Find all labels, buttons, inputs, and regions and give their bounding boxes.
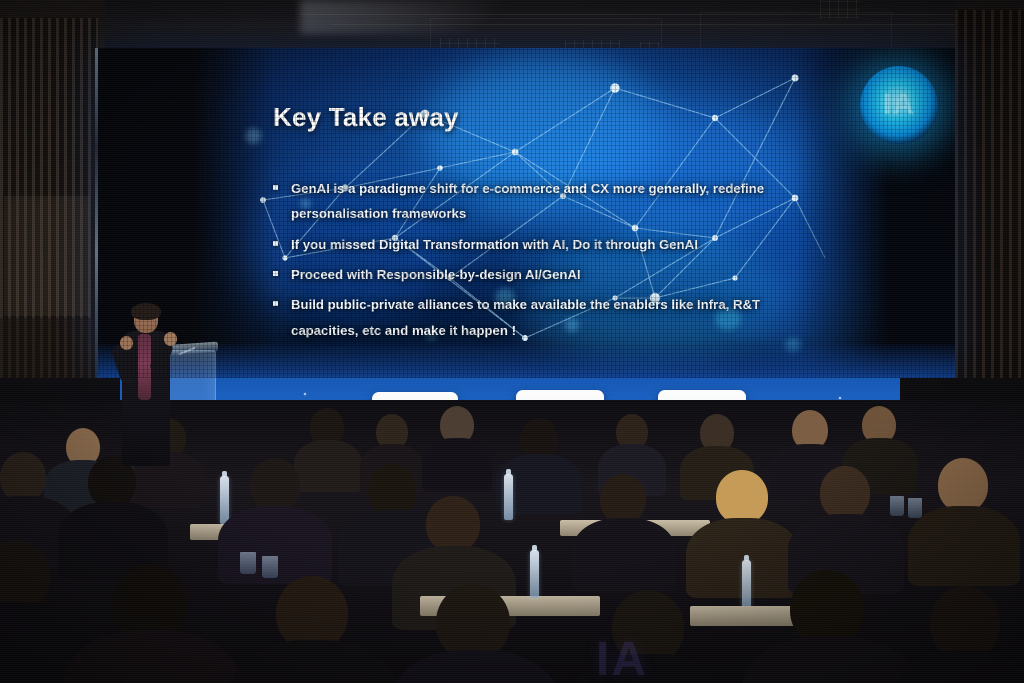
conference-photo: IA Key Take away GenAI is a paradigme sh…: [0, 0, 1024, 683]
slide-bullet-list: GenAI is a paradigme shift for e-commerc…: [271, 176, 831, 348]
ia-circle-logo: IA: [860, 66, 938, 144]
drinking-glass: [240, 552, 256, 574]
slide-bullet: Proceed with Responsible-by-design AI/Ge…: [271, 262, 831, 287]
wall-panel: [4, 196, 90, 316]
water-bottle: [530, 550, 539, 598]
wall-slats-right: [955, 10, 1024, 410]
slatted-wall-right: [955, 0, 1024, 440]
ia-logo-text: IA: [860, 66, 938, 144]
led-screen: IA Key Take away GenAI is a paradigme sh…: [95, 48, 955, 378]
keynote-speaker: [118, 306, 174, 466]
slide-title: Key Take away: [273, 102, 459, 133]
slide-bottom-glow: [95, 344, 955, 378]
water-bottle: [504, 474, 513, 520]
water-bottle: [220, 476, 229, 524]
slide-bullet: If you missed Digital Transformation wit…: [271, 232, 831, 257]
drinking-glass: [890, 496, 904, 516]
drinking-glass: [262, 556, 278, 578]
drinking-glass: [908, 498, 922, 518]
slide-bullet: GenAI is a paradigme shift for e-commerc…: [271, 176, 831, 227]
ia-floor-projection: IA: [596, 632, 648, 683]
water-bottle: [742, 560, 751, 608]
slide-bullet: Build public-private alliances to make a…: [271, 292, 831, 343]
screen-left-edge: [95, 48, 98, 378]
